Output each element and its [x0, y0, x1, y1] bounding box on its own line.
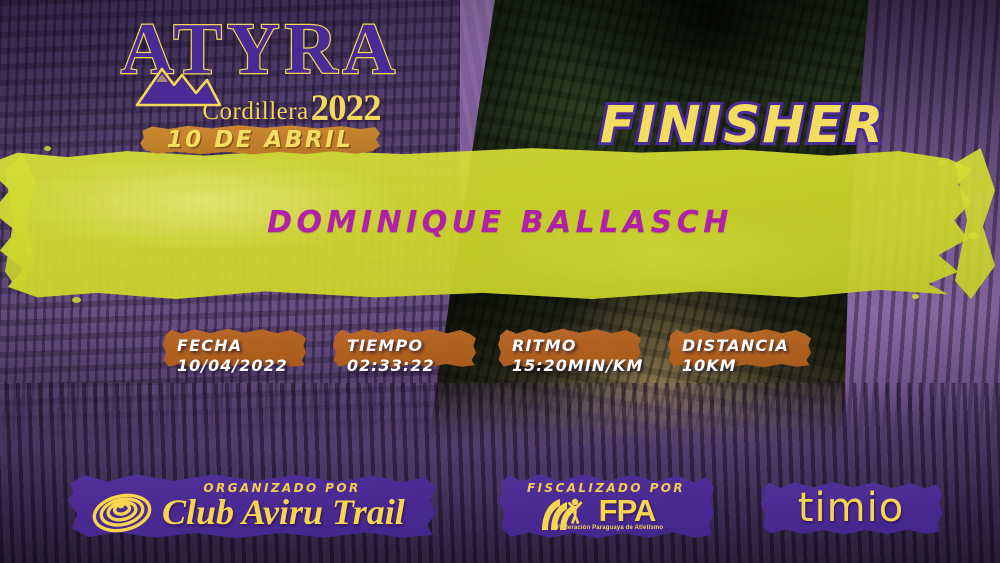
status-badge: FINISHER [600, 96, 885, 155]
stat-value: 15:20MIN/KM [512, 356, 643, 376]
stat-box-fecha: FECHA 10/04/2022 [163, 328, 306, 368]
stat-value: 10KM [682, 356, 789, 376]
stat-label: TIEMPO [347, 336, 435, 356]
finisher-certificate: ATYRA Cordillera 2022 10 DE ABRIL FINISH… [0, 0, 1000, 563]
event-logo: ATYRA Cordillera 2022 10 DE ABRIL [118, 14, 403, 144]
event-date-banner: 10 DE ABRIL [140, 124, 380, 155]
fpa-acronym-wrap: FPA [498, 495, 714, 526]
timing-partner-name: timio [760, 481, 942, 535]
mountain-icon [134, 60, 222, 108]
stat-text: DISTANCIA 10KM [682, 336, 789, 375]
athlete-name: DOMINIQUE BALLASCH [0, 205, 1000, 240]
fpa-acronym: FPA [557, 493, 656, 528]
sponsor-sanctioning-body[interactable]: FISCALIZADO POR FPA Federación Paraguaya… [498, 473, 714, 539]
stat-text: TIEMPO 02:33:22 [347, 336, 435, 375]
stat-label: DISTANCIA [682, 336, 789, 356]
fpa-full-name: Federación Paraguaya de Atletismo [498, 525, 714, 531]
sponsor-organizer[interactable]: ORGANIZADO POR Club Aviru Trail [66, 473, 436, 539]
stat-label: FECHA [177, 336, 288, 356]
stat-value: 10/04/2022 [177, 356, 288, 376]
stat-value: 02:33:22 [347, 356, 435, 376]
organizer-name: Club Aviru Trail [162, 491, 405, 533]
stat-box-ritmo: RITMO 15:20MIN/KM [498, 328, 641, 368]
stat-text: FECHA 10/04/2022 [177, 336, 288, 375]
stat-label: RITMO [512, 336, 643, 356]
stat-box-distancia: DISTANCIA 10KM [668, 328, 811, 368]
sponsor-timing-partner[interactable]: timio [760, 481, 942, 535]
stat-box-tiempo: TIEMPO 02:33:22 [333, 328, 476, 368]
event-year: 2022 [311, 92, 381, 126]
spiral-nest-icon [90, 489, 154, 533]
stat-text: RITMO 15:20MIN/KM [512, 336, 643, 375]
